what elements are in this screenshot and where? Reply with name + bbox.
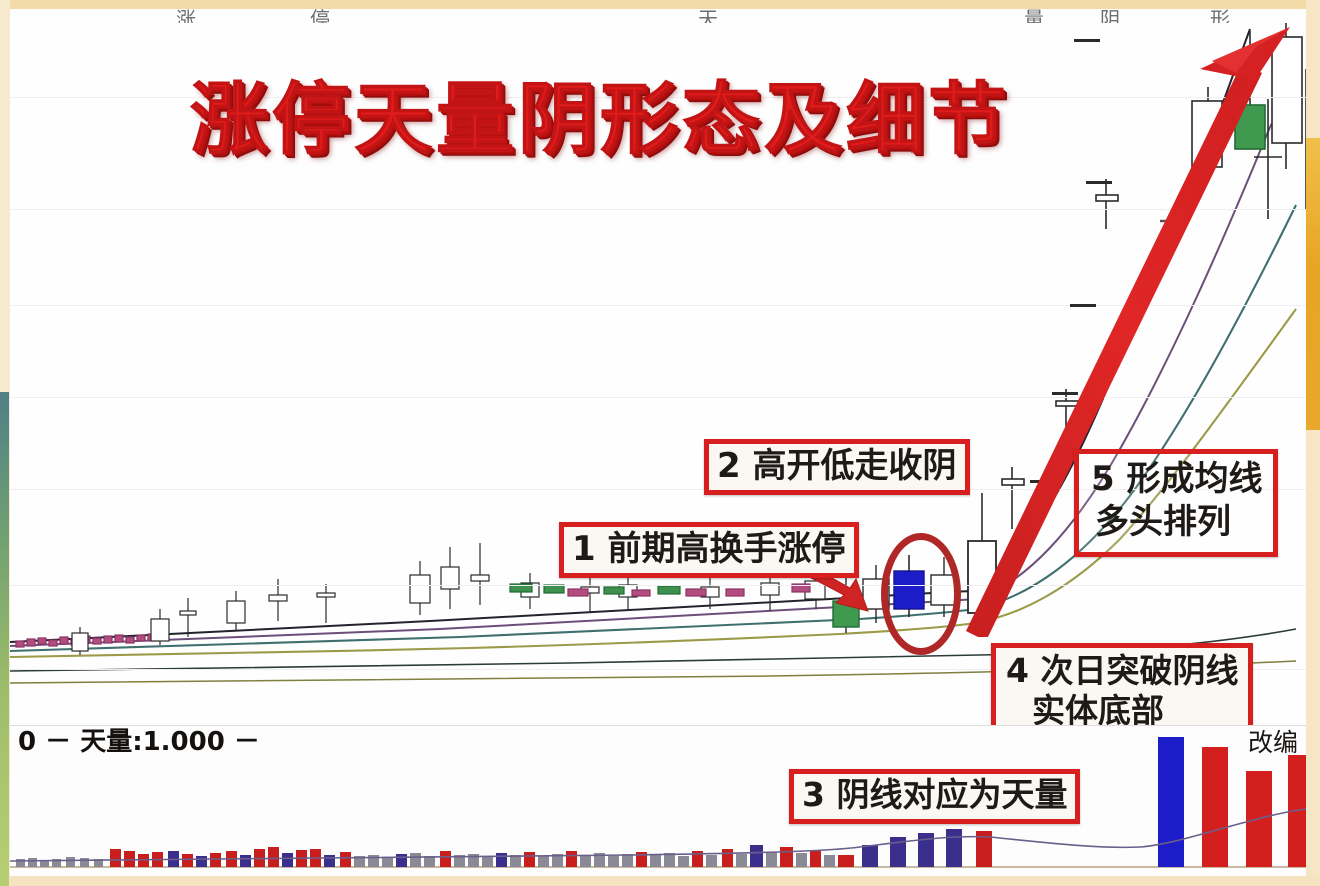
annotation-4: 4 次日突破阴线 实体底部 [991, 643, 1253, 725]
annotation-2-line-1: 2 高开低走收阴 [717, 446, 957, 486]
watermark-glyph: 量 [1024, 9, 1044, 23]
corner-credit-label: 改编 [1248, 723, 1298, 759]
annotation-5-line-2: 多头排列 [1091, 501, 1263, 544]
annotation-3-line-1: 3 阴线对应为天量 [802, 776, 1067, 815]
frame-bottom-border [0, 876, 1320, 886]
annotation-1: 1 前期高换手涨停 [559, 522, 859, 578]
highlight-ellipse [881, 533, 961, 655]
page-title: 涨停天量阴形态及细节 [190, 57, 1010, 169]
annotation-3: 3 阴线对应为天量 [789, 769, 1080, 824]
annotation-5-line-1: 5 形成均线 [1091, 458, 1263, 501]
chart-canvas: 涨 停 天 量 阴 形 涨停天量阴形态及细节 2 高开低走收阴 1 前期高换手涨… [10, 9, 1306, 876]
frame-right-border [1306, 0, 1320, 886]
annotation-5: 5 形成均线 多头排列 [1074, 449, 1278, 557]
annotation-4-line-1: 4 次日突破阴线 [1006, 651, 1238, 691]
watermark-glyph: 涨 [176, 9, 196, 23]
frame-top-border [0, 0, 1320, 9]
frame-accent-green [0, 392, 9, 886]
annotation-2: 2 高开低走收阴 [704, 439, 970, 495]
chart-image-root: 涨 停 天 量 阴 形 涨停天量阴形态及细节 2 高开低走收阴 1 前期高换手涨… [0, 0, 1320, 886]
annotation-1-line-1: 1 前期高换手涨停 [572, 529, 846, 569]
price-pane: 涨 停 天 量 阴 形 涨停天量阴形态及细节 2 高开低走收阴 1 前期高换手涨… [10, 9, 1306, 725]
annotation-4-line-2: 实体底部 [1006, 691, 1238, 725]
watermark-glyph: 形 [1210, 9, 1230, 23]
watermark-glyph: 停 [310, 9, 330, 23]
frame-accent-gold [1306, 138, 1320, 430]
volume-axis-label: 0 － 天量:1.000 － [18, 721, 260, 758]
watermark-glyph: 天 [698, 9, 718, 23]
watermark-glyph: 阴 [1100, 9, 1120, 23]
